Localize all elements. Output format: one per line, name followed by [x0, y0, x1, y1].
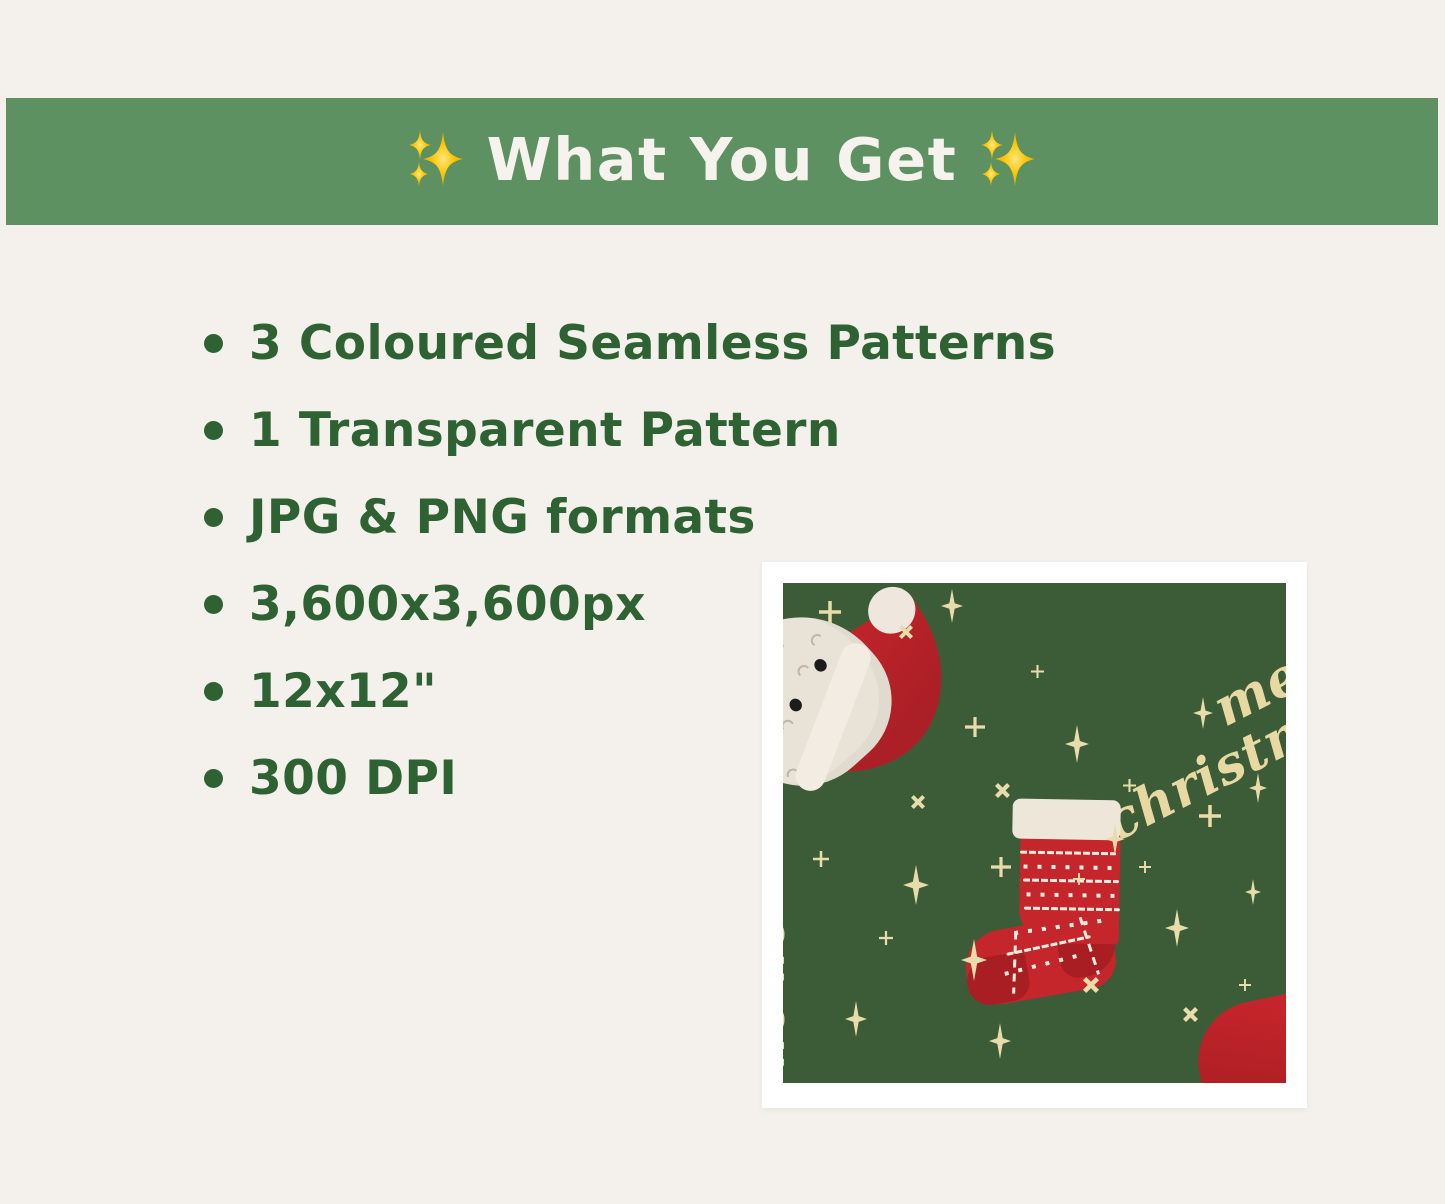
sparkle-diamond-icon	[1165, 909, 1189, 947]
list-item: JPG & PNG formats	[204, 474, 1144, 561]
corner-santa-hat	[1187, 993, 1286, 1083]
bullet-icon	[204, 682, 223, 701]
sparkle-diamond-icon	[1245, 879, 1261, 905]
sparkle-plus-icon	[813, 851, 829, 867]
sparkles-icon	[977, 126, 1039, 193]
sparkle-x-icon	[911, 795, 925, 809]
ho-ho-lettering: HO HO	[783, 915, 793, 1069]
pattern-preview-frame: merry christmas HO HO	[762, 562, 1307, 1108]
santa-head-illustration	[783, 583, 998, 843]
page-title: What You Get	[487, 125, 958, 194]
christmas-stocking-illustration	[951, 792, 1161, 1011]
bullet-icon	[204, 508, 223, 527]
list-item-label: JPG & PNG formats	[249, 494, 756, 541]
list-item-label: 1 Transparent Pattern	[249, 407, 841, 454]
sparkle-x-icon	[995, 783, 1010, 798]
sparkle-plus-icon	[879, 931, 893, 945]
sparkle-x-icon	[1183, 1007, 1198, 1022]
sparkle-diamond-icon	[903, 865, 929, 905]
page-root: What You Get 3 Coloured Seamless Pattern…	[0, 0, 1445, 1204]
list-item-label: 3,600x3,600px	[249, 581, 646, 628]
list-item-label: 3 Coloured Seamless Patterns	[249, 320, 1056, 367]
list-item: 1 Transparent Pattern	[204, 387, 1144, 474]
bullet-icon	[204, 769, 223, 788]
header-banner: What You Get	[6, 98, 1438, 225]
list-item: 3 Coloured Seamless Patterns	[204, 300, 1144, 387]
sparkle-plus-icon	[1031, 665, 1044, 678]
sparkle-plus-icon	[1239, 979, 1251, 991]
header-title-group: What You Get	[405, 125, 1040, 194]
pattern-preview-image: merry christmas HO HO	[783, 583, 1286, 1083]
sparkles-icon	[405, 126, 467, 193]
stocking-cuff	[1012, 799, 1121, 841]
sparkle-diamond-icon	[989, 1023, 1011, 1059]
sparkle-diamond-icon	[941, 589, 963, 623]
bullet-icon	[204, 334, 223, 353]
sparkle-diamond-icon	[845, 1001, 867, 1037]
list-item-label: 12x12"	[249, 668, 437, 715]
bullet-icon	[204, 595, 223, 614]
list-item-label: 300 DPI	[249, 755, 457, 802]
bullet-icon	[204, 421, 223, 440]
